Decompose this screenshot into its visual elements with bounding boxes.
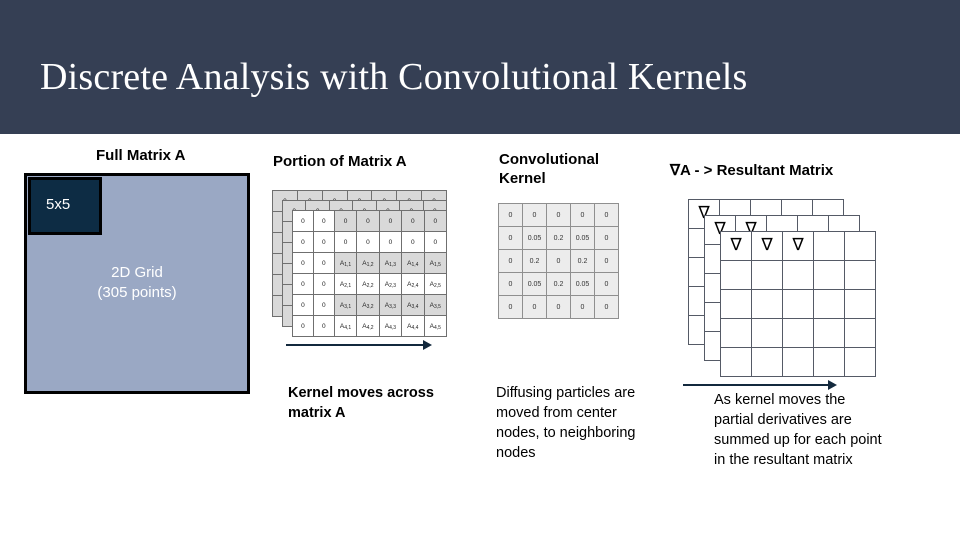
kernel-cell: 0 — [571, 204, 595, 227]
grid-caption-line-1: 2D Grid — [24, 263, 250, 283]
matrix-cell: A4,2 — [357, 316, 379, 337]
kernel-cell: 0.05 — [571, 227, 595, 250]
kernel-cell: 0 — [595, 204, 619, 227]
resultant-cell — [845, 290, 876, 319]
matrix-cell: 0 — [313, 232, 334, 253]
kernel-heading-line-2: Kernel — [499, 169, 629, 188]
arrow-right-icon — [683, 380, 837, 390]
resultant-row — [721, 261, 876, 290]
resultant-cell — [783, 348, 814, 377]
matrix-cell: 0 — [424, 211, 446, 232]
matrix-cell: A2,1 — [334, 274, 356, 295]
matrix-cell: 0 — [357, 232, 379, 253]
portion-of-matrix-heading: Portion of Matrix A — [273, 152, 407, 171]
convolutional-kernel-grid: 0000000.050.20.05000.200.2000.050.20.050… — [498, 203, 619, 319]
resultant-cell — [845, 261, 876, 290]
resultant-cell — [721, 261, 752, 290]
matrix-cell: A3,4 — [402, 295, 424, 316]
matrix-cell: A3,2 — [357, 295, 379, 316]
matrix-cell: 0 — [402, 211, 424, 232]
arrow-right-icon — [286, 340, 432, 350]
matrix-cell: A1,4 — [402, 253, 424, 274]
matrix-cell: 0 — [357, 211, 379, 232]
matrix-cell: A4,5 — [424, 316, 446, 337]
kernel-cell: 0 — [595, 296, 619, 319]
matrix-cell: A4,3 — [379, 316, 401, 337]
resultant-cell — [752, 290, 783, 319]
matrix-cell: A2,5 — [424, 274, 446, 295]
kernel-cell: 0 — [547, 296, 571, 319]
resultant-cell — [814, 232, 845, 261]
matrix-row: 00A3,1A3,2A3,3A3,4A3,5 — [293, 295, 447, 316]
matrix-cell: 0 — [313, 211, 334, 232]
resultant-cell — [814, 319, 845, 348]
matrix-cell: A3,3 — [379, 295, 401, 316]
resultant-row: ∇∇∇ — [721, 232, 876, 261]
matrix-row: 0000000 — [293, 211, 447, 232]
matrix-cell: 0 — [293, 232, 314, 253]
matrix-cell: A2,3 — [379, 274, 401, 295]
portion-grid-front: 0000000000000000A1,1A1,2A1,3A1,4A1,500A2… — [292, 210, 447, 337]
caption-kernel-moves: Kernel moves across matrix A — [288, 383, 438, 423]
slide-canvas: Discrete Analysis with Convolutional Ker… — [0, 0, 960, 540]
resultant-cell — [721, 290, 752, 319]
matrix-cell: A4,1 — [334, 316, 356, 337]
matrix-cell: 0 — [293, 316, 314, 337]
matrix-cell: 0 — [402, 232, 424, 253]
matrix-row: 0000000 — [293, 232, 447, 253]
arrow-shaft — [286, 344, 423, 346]
kernel-cell: 0 — [499, 204, 523, 227]
matrix-row: 00A2,1A2,2A2,3A2,4A2,5 — [293, 274, 447, 295]
caption-diffusing-particles: Diffusing particles are moved from cente… — [496, 383, 656, 463]
matrix-cell: 0 — [313, 274, 334, 295]
caption-summed-derivatives: As kernel moves the partial derivatives … — [714, 390, 882, 470]
resultant-grid-front: ∇∇∇ — [720, 231, 876, 377]
kernel-cell: 0 — [595, 250, 619, 273]
arrow-head — [828, 380, 837, 390]
convolutional-kernel-heading: Convolutional Kernel — [499, 150, 629, 188]
resultant-cell — [814, 290, 845, 319]
resultant-cell: ∇ — [721, 232, 752, 261]
matrix-cell: A2,4 — [402, 274, 424, 295]
kernel-cell: 0 — [571, 296, 595, 319]
matrix-cell: 0 — [293, 211, 314, 232]
kernel-row: 00.050.20.050 — [499, 273, 619, 296]
kernel-cell: 0 — [499, 273, 523, 296]
matrix-row: 00A4,1A4,2A4,3A4,4A4,5 — [293, 316, 447, 337]
matrix-cell: 0 — [334, 232, 356, 253]
kernel-cell: 0.05 — [523, 227, 547, 250]
grid-caption-line-2: (305 points) — [24, 283, 250, 303]
kernel-cell: 0.2 — [571, 250, 595, 273]
sub-block-label: 5x5 — [46, 196, 70, 213]
kernel-cell: 0 — [547, 204, 571, 227]
resultant-cell — [752, 319, 783, 348]
kernel-cell: 0 — [523, 296, 547, 319]
kernel-row: 00000 — [499, 204, 619, 227]
kernel-row: 00.200.20 — [499, 250, 619, 273]
matrix-cell: A1,1 — [334, 253, 356, 274]
resultant-matrix-stack: ∇ ∇∇ ∇∇∇ — [688, 199, 878, 379]
arrow-head — [423, 340, 432, 350]
matrix-cell: 0 — [293, 274, 314, 295]
matrix-cell: 0 — [313, 253, 334, 274]
matrix-row: 00A1,1A1,2A1,3A1,4A1,5 — [293, 253, 447, 274]
matrix-cell: A4,4 — [402, 316, 424, 337]
nabla-icon: ∇ — [792, 237, 803, 254]
kernel-cell: 0.2 — [547, 227, 571, 250]
resultant-cell — [783, 319, 814, 348]
resultant-cell — [752, 261, 783, 290]
matrix-cell: A2,2 — [357, 274, 379, 295]
kernel-cell: 0 — [523, 204, 547, 227]
resultant-cell — [814, 261, 845, 290]
resultant-cell: ∇ — [752, 232, 783, 261]
matrix-cell: 0 — [293, 253, 314, 274]
kernel-cell: 0 — [499, 227, 523, 250]
kernel-cell: 0.2 — [547, 273, 571, 296]
resultant-cell: ∇ — [783, 232, 814, 261]
resultant-cell — [721, 319, 752, 348]
kernel-cell: 0.2 — [523, 250, 547, 273]
portion-matrix-stack: 000000000000 000000000000 00000000000000… — [272, 190, 447, 335]
arrow-shaft — [683, 384, 828, 386]
matrix-cell: A1,2 — [357, 253, 379, 274]
kernel-cell: 0 — [499, 250, 523, 273]
resultant-cell — [783, 290, 814, 319]
kernel-cell: 0 — [595, 227, 619, 250]
matrix-cell: 0 — [334, 211, 356, 232]
resultant-cell — [814, 348, 845, 377]
matrix-cell: 0 — [424, 232, 446, 253]
matrix-cell: 0 — [379, 232, 401, 253]
kernel-cell: 0.05 — [523, 273, 547, 296]
kernel-cell: 0.05 — [571, 273, 595, 296]
resultant-cell — [721, 348, 752, 377]
kernel-heading-line-1: Convolutional — [499, 150, 629, 169]
resultant-row — [721, 348, 876, 377]
nabla-icon: ∇ — [730, 237, 741, 254]
resultant-row — [721, 319, 876, 348]
nabla-icon: ∇ — [761, 237, 772, 254]
kernel-row: 00000 — [499, 296, 619, 319]
matrix-cell: 0 — [293, 295, 314, 316]
matrix-cell: A1,3 — [379, 253, 401, 274]
kernel-cell: 0 — [595, 273, 619, 296]
kernel-cell: 0 — [499, 296, 523, 319]
full-matrix-grid-caption: 2D Grid (305 points) — [24, 263, 250, 303]
matrix-cell: 0 — [313, 316, 334, 337]
matrix-cell: 0 — [379, 211, 401, 232]
resultant-cell — [845, 232, 876, 261]
full-matrix-heading: Full Matrix A — [96, 146, 185, 165]
resultant-cell — [752, 348, 783, 377]
kernel-cell: 0 — [547, 250, 571, 273]
kernel-row: 00.050.20.050 — [499, 227, 619, 250]
resultant-cell — [845, 348, 876, 377]
resultant-row — [721, 290, 876, 319]
matrix-cell: 0 — [313, 295, 334, 316]
matrix-cell: A3,1 — [334, 295, 356, 316]
matrix-cell: A3,5 — [424, 295, 446, 316]
resultant-cell — [783, 261, 814, 290]
resultant-cell — [845, 319, 876, 348]
resultant-matrix-heading: ∇A - > Resultant Matrix — [670, 161, 833, 180]
matrix-cell: A1,5 — [424, 253, 446, 274]
page-title: Discrete Analysis with Convolutional Ker… — [40, 55, 747, 99]
